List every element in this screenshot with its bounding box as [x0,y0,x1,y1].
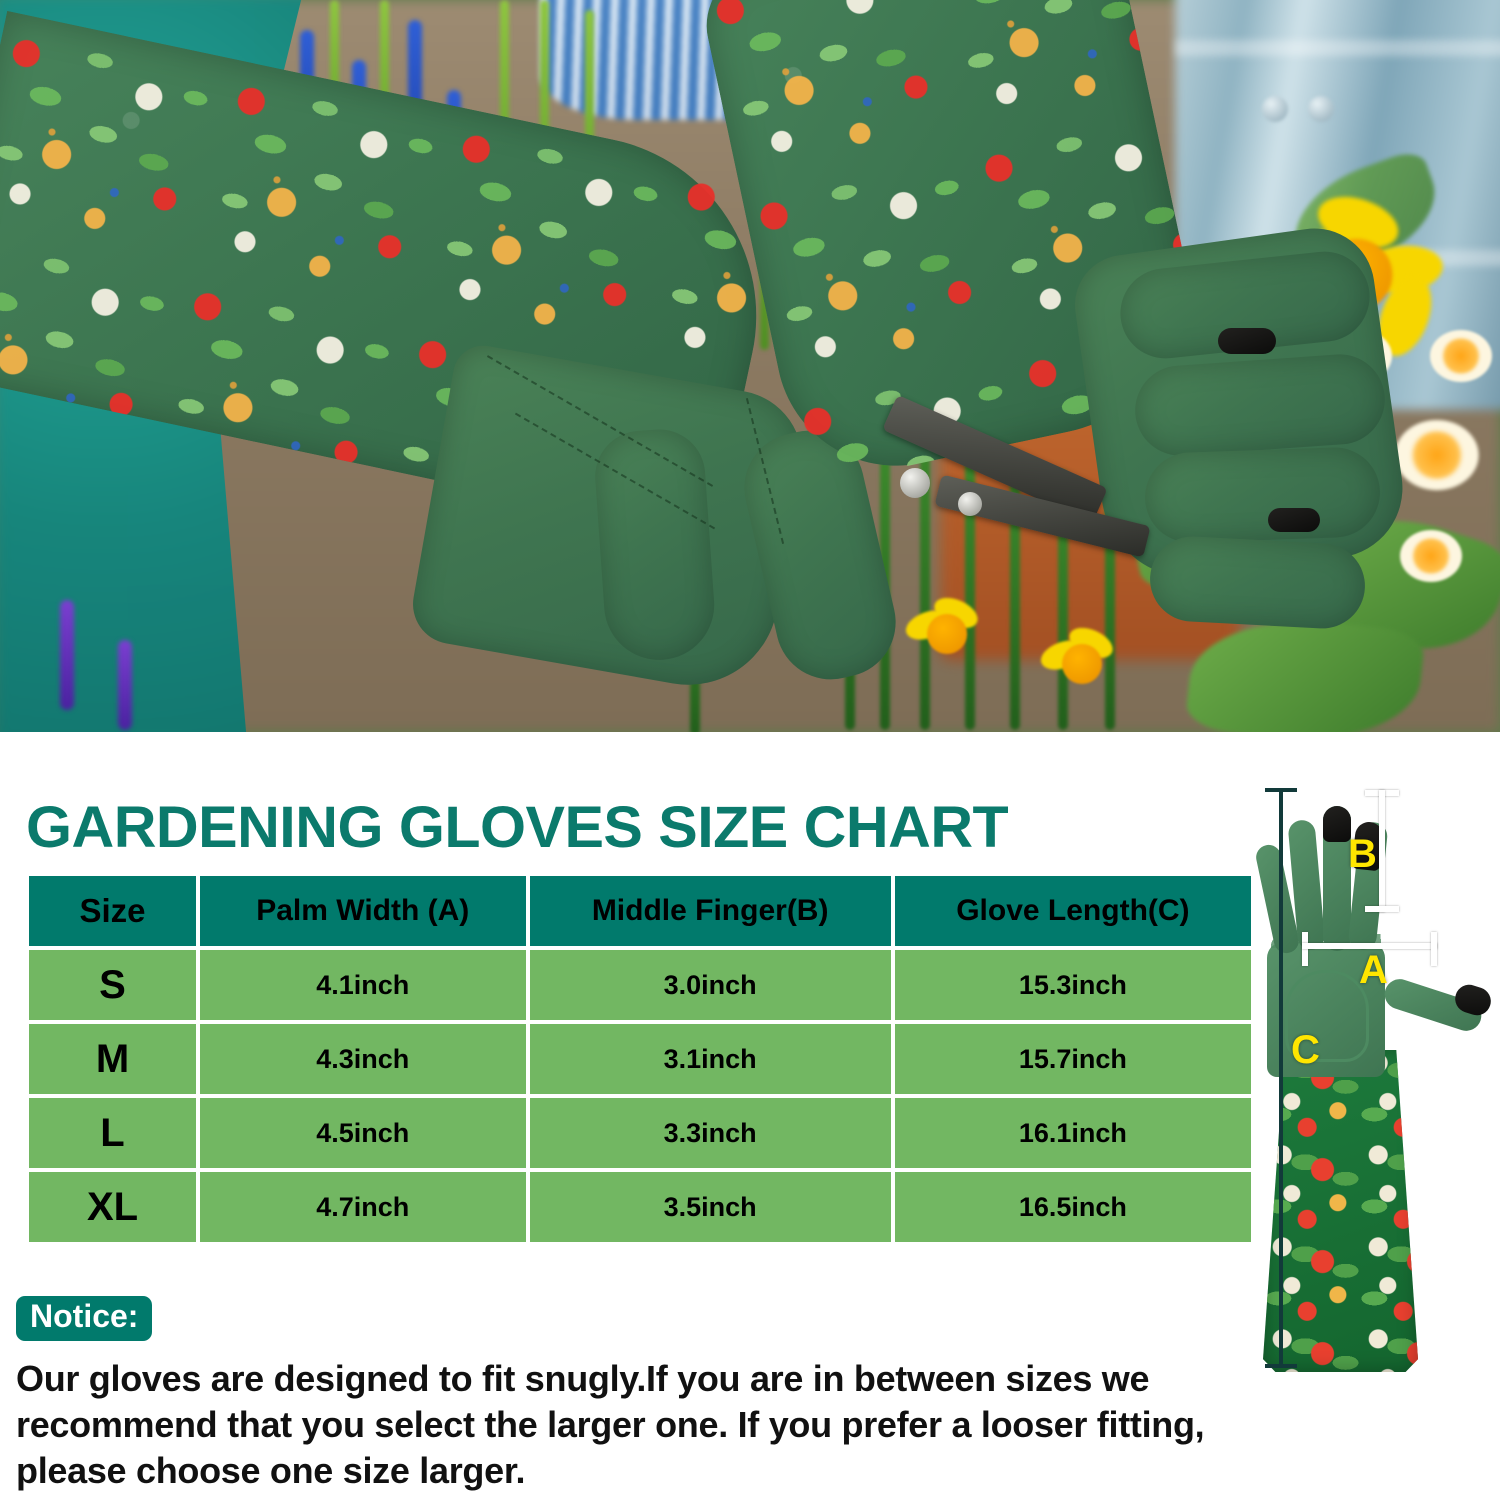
notice-badge: Notice: [16,1296,152,1341]
bucket-band [1175,40,1500,56]
table-row: M 4.3inch 3.1inch 15.7inch [29,1024,1251,1094]
page-title: GARDENING GLOVES SIZE CHART [26,794,1008,861]
glove-measurement-diagram: B A C [1255,782,1500,1382]
cell-palm-width: 4.7inch [200,1172,526,1242]
cell-size: XL [29,1172,196,1242]
column-header-palm-width: Palm Width (A) [200,876,526,946]
measure-c-label: C [1291,1030,1320,1070]
cell-middle-finger: 3.5inch [530,1172,891,1242]
glove-right-finger [1132,351,1388,458]
glove-right-finger [1148,534,1367,630]
plant-stalk [965,430,975,730]
pruning-shears-pivot [900,468,930,498]
size-chart-table: Size Palm Width (A) Middle Finger(B) Glo… [25,872,1255,1246]
glove-right-finger [1144,446,1382,544]
pruning-shears-rivet [958,492,982,516]
table-row: S 4.1inch 3.0inch 15.3inch [29,950,1251,1020]
cell-glove-length: 16.5inch [895,1172,1251,1242]
hyacinth-flower [118,640,132,730]
product-photo [0,0,1500,732]
measure-b-cap-bottom [1365,906,1399,912]
cell-palm-width: 4.5inch [200,1098,526,1168]
column-header-glove-length: Glove Length(C) [895,876,1251,946]
cell-glove-length: 15.7inch [895,1024,1251,1094]
table-row: L 4.5inch 3.3inch 16.1inch [29,1098,1251,1168]
cell-size: S [29,950,196,1020]
bucket-knob [1308,96,1334,122]
table-row: XL 4.7inch 3.5inch 16.5inch [29,1172,1251,1242]
measure-a-cap-left [1302,932,1308,966]
glove-left-thumb [592,426,718,663]
table-header-row: Size Palm Width (A) Middle Finger(B) Glo… [29,876,1251,946]
cell-glove-length: 16.1inch [895,1098,1251,1168]
cell-glove-length: 15.3inch [895,950,1251,1020]
cell-palm-width: 4.3inch [200,1024,526,1094]
touchscreen-fingertip [1218,328,1276,354]
notice-text: Our gloves are designed to fit snugly.If… [16,1356,1231,1494]
measure-c-cap-bottom [1265,1364,1297,1368]
column-header-middle-finger: Middle Finger(B) [530,876,891,946]
cell-palm-width: 4.1inch [200,950,526,1020]
measure-b-line [1379,790,1385,912]
measure-a-cap-right [1431,932,1437,966]
cell-middle-finger: 3.0inch [530,950,891,1020]
cell-middle-finger: 3.3inch [530,1098,891,1168]
cell-size: L [29,1098,196,1168]
diagram-tip-middle [1323,806,1351,842]
cell-size: M [29,1024,196,1094]
measure-b-label: B [1348,834,1377,874]
hyacinth-flower [60,600,74,710]
diagram-glove-cuff [1263,1050,1418,1372]
measure-a-label: A [1359,950,1388,990]
cell-middle-finger: 3.1inch [530,1024,891,1094]
column-header-size: Size [29,876,196,946]
bucket-knob [1262,96,1288,122]
touchscreen-fingertip [1268,508,1320,532]
measure-c-line [1279,788,1283,1368]
